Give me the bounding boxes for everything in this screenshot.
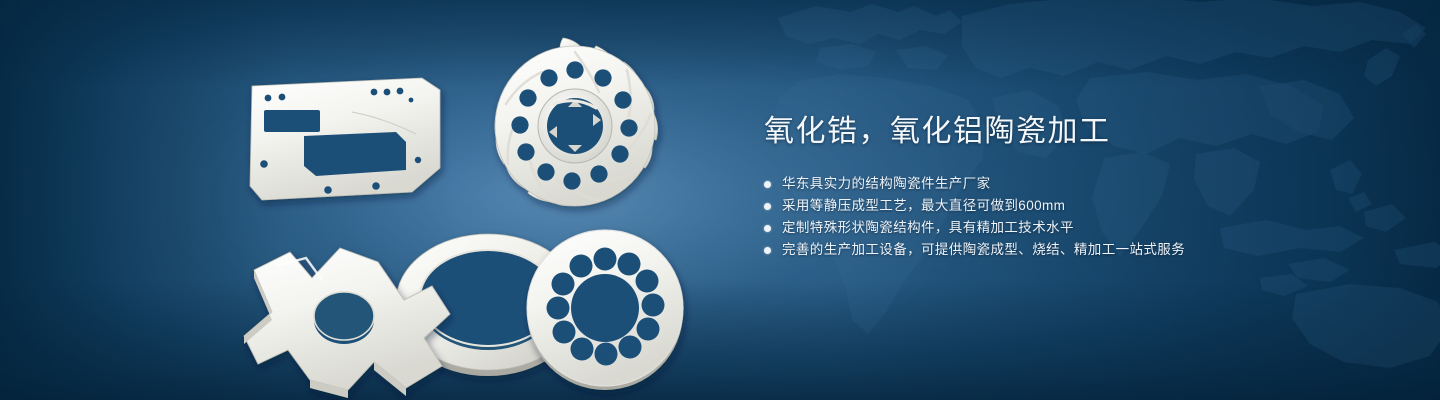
feature-text: 采用等静压成型工艺，最大直径可做到600mm (782, 195, 1065, 217)
bullet-dot-icon (764, 225, 771, 232)
bullet-dot-icon (764, 181, 771, 188)
list-item: 采用等静压成型工艺，最大直径可做到600mm (764, 195, 1384, 217)
list-item: 完善的生产加工设备，可提供陶瓷成型、烧结、精加工一站式服务 (764, 239, 1384, 261)
bullet-dot-icon (764, 247, 771, 254)
ceramic-impeller-part (495, 38, 658, 206)
ceramic-perforated-disc-part (527, 230, 683, 390)
banner-copy: 氧化锆，氧化铝陶瓷加工 华东具实力的结构陶瓷件生产厂家 采用等静压成型工艺，最大… (764, 112, 1384, 261)
feature-text: 完善的生产加工设备，可提供陶瓷成型、烧结、精加工一站式服务 (782, 239, 1185, 261)
feature-text: 华东具实力的结构陶瓷件生产厂家 (782, 173, 991, 195)
list-item: 华东具实力的结构陶瓷件生产厂家 (764, 173, 1384, 195)
ceramic-parts-photo (230, 28, 730, 388)
banner-headline: 氧化锆，氧化铝陶瓷加工 (764, 112, 1384, 152)
ceramic-plate-part (250, 78, 440, 200)
hero-banner: 氧化锆，氧化铝陶瓷加工 华东具实力的结构陶瓷件生产厂家 采用等静压成型工艺，最大… (0, 0, 1440, 400)
feature-text: 定制特殊形状陶瓷结构件，具有精加工技术水平 (782, 217, 1074, 239)
banner-feature-list: 华东具实力的结构陶瓷件生产厂家 采用等静压成型工艺，最大直径可做到600mm 定… (764, 173, 1384, 261)
list-item: 定制特殊形状陶瓷结构件，具有精加工技术水平 (764, 217, 1384, 239)
bullet-dot-icon (764, 203, 771, 210)
